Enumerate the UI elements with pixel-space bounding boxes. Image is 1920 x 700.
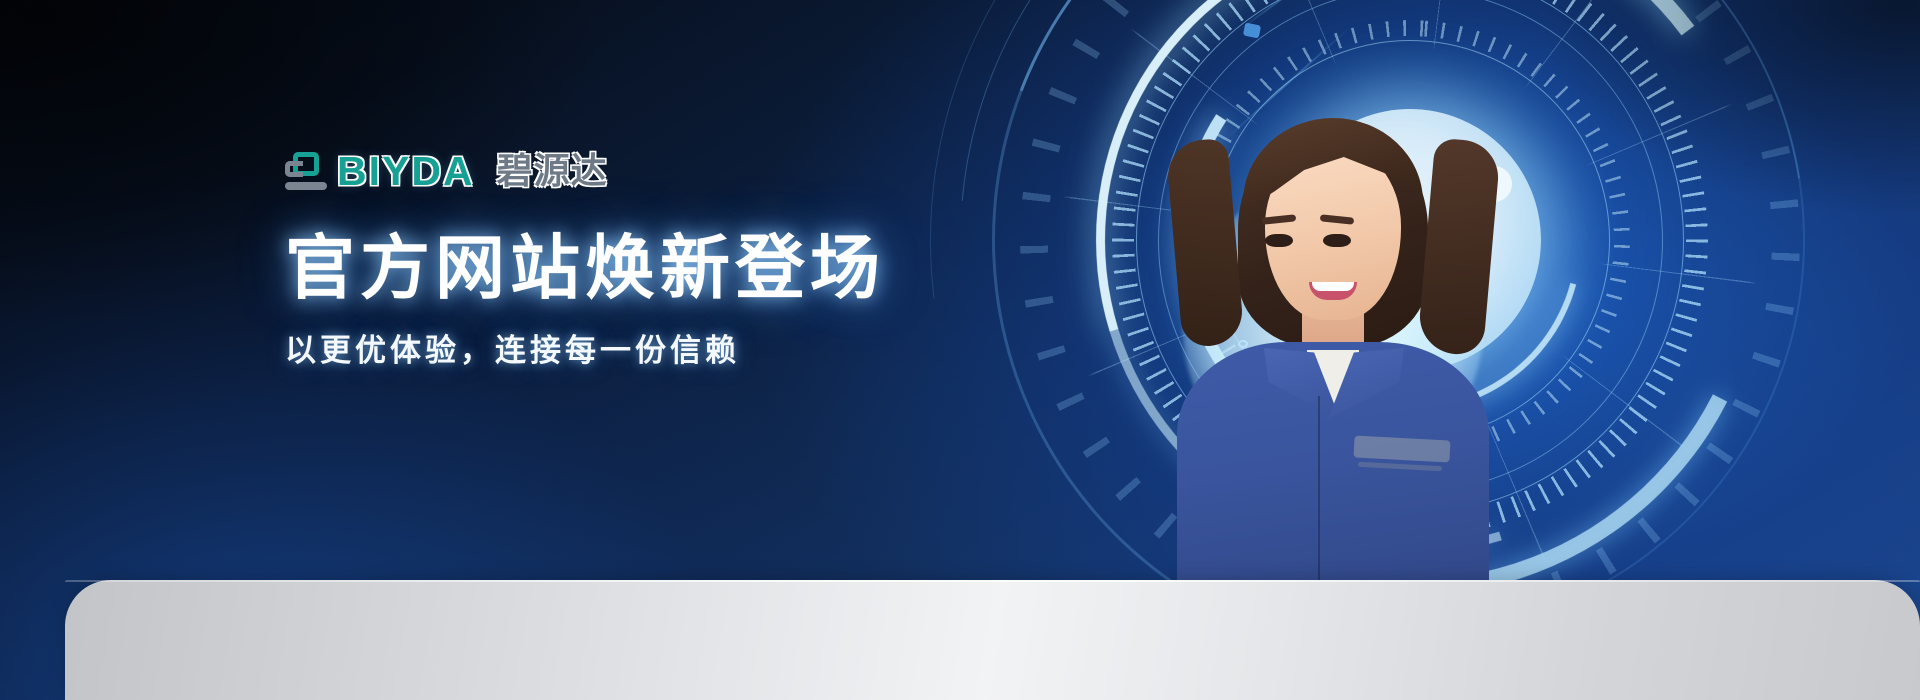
- hero-subtitle: 以更优体验，连接每一份信赖: [285, 325, 1045, 370]
- brand-chinese-name: 碧源达: [497, 153, 608, 189]
- hud-streak: [1237, 0, 1408, 32]
- biyda-b-mark-icon: [285, 152, 327, 190]
- hero-content: BIYDA 碧源达 官方网站焕新登场 以更优体验，连接每一份信赖: [285, 146, 1045, 370]
- eye-right: [1323, 234, 1351, 247]
- hud-chip: [1243, 22, 1261, 38]
- hero-headline: 官方网站焕新登场: [285, 232, 1045, 305]
- hero-banner: BIYDA 碧源达 官方网站焕新登场 以更优体验，连接每一份信赖: [0, 0, 1920, 700]
- hair-right: [1417, 138, 1501, 357]
- eye-left: [1265, 234, 1293, 247]
- mark-gray-hook: [285, 161, 303, 177]
- hair-left: [1165, 138, 1245, 349]
- brand-logo[interactable]: BIYDA 碧源达: [285, 146, 1045, 196]
- teeth: [1312, 282, 1354, 291]
- mark-base-bar: [285, 182, 327, 190]
- brand-wordmark: BIYDA: [337, 151, 475, 192]
- bottom-rounded-panel: [65, 580, 1920, 700]
